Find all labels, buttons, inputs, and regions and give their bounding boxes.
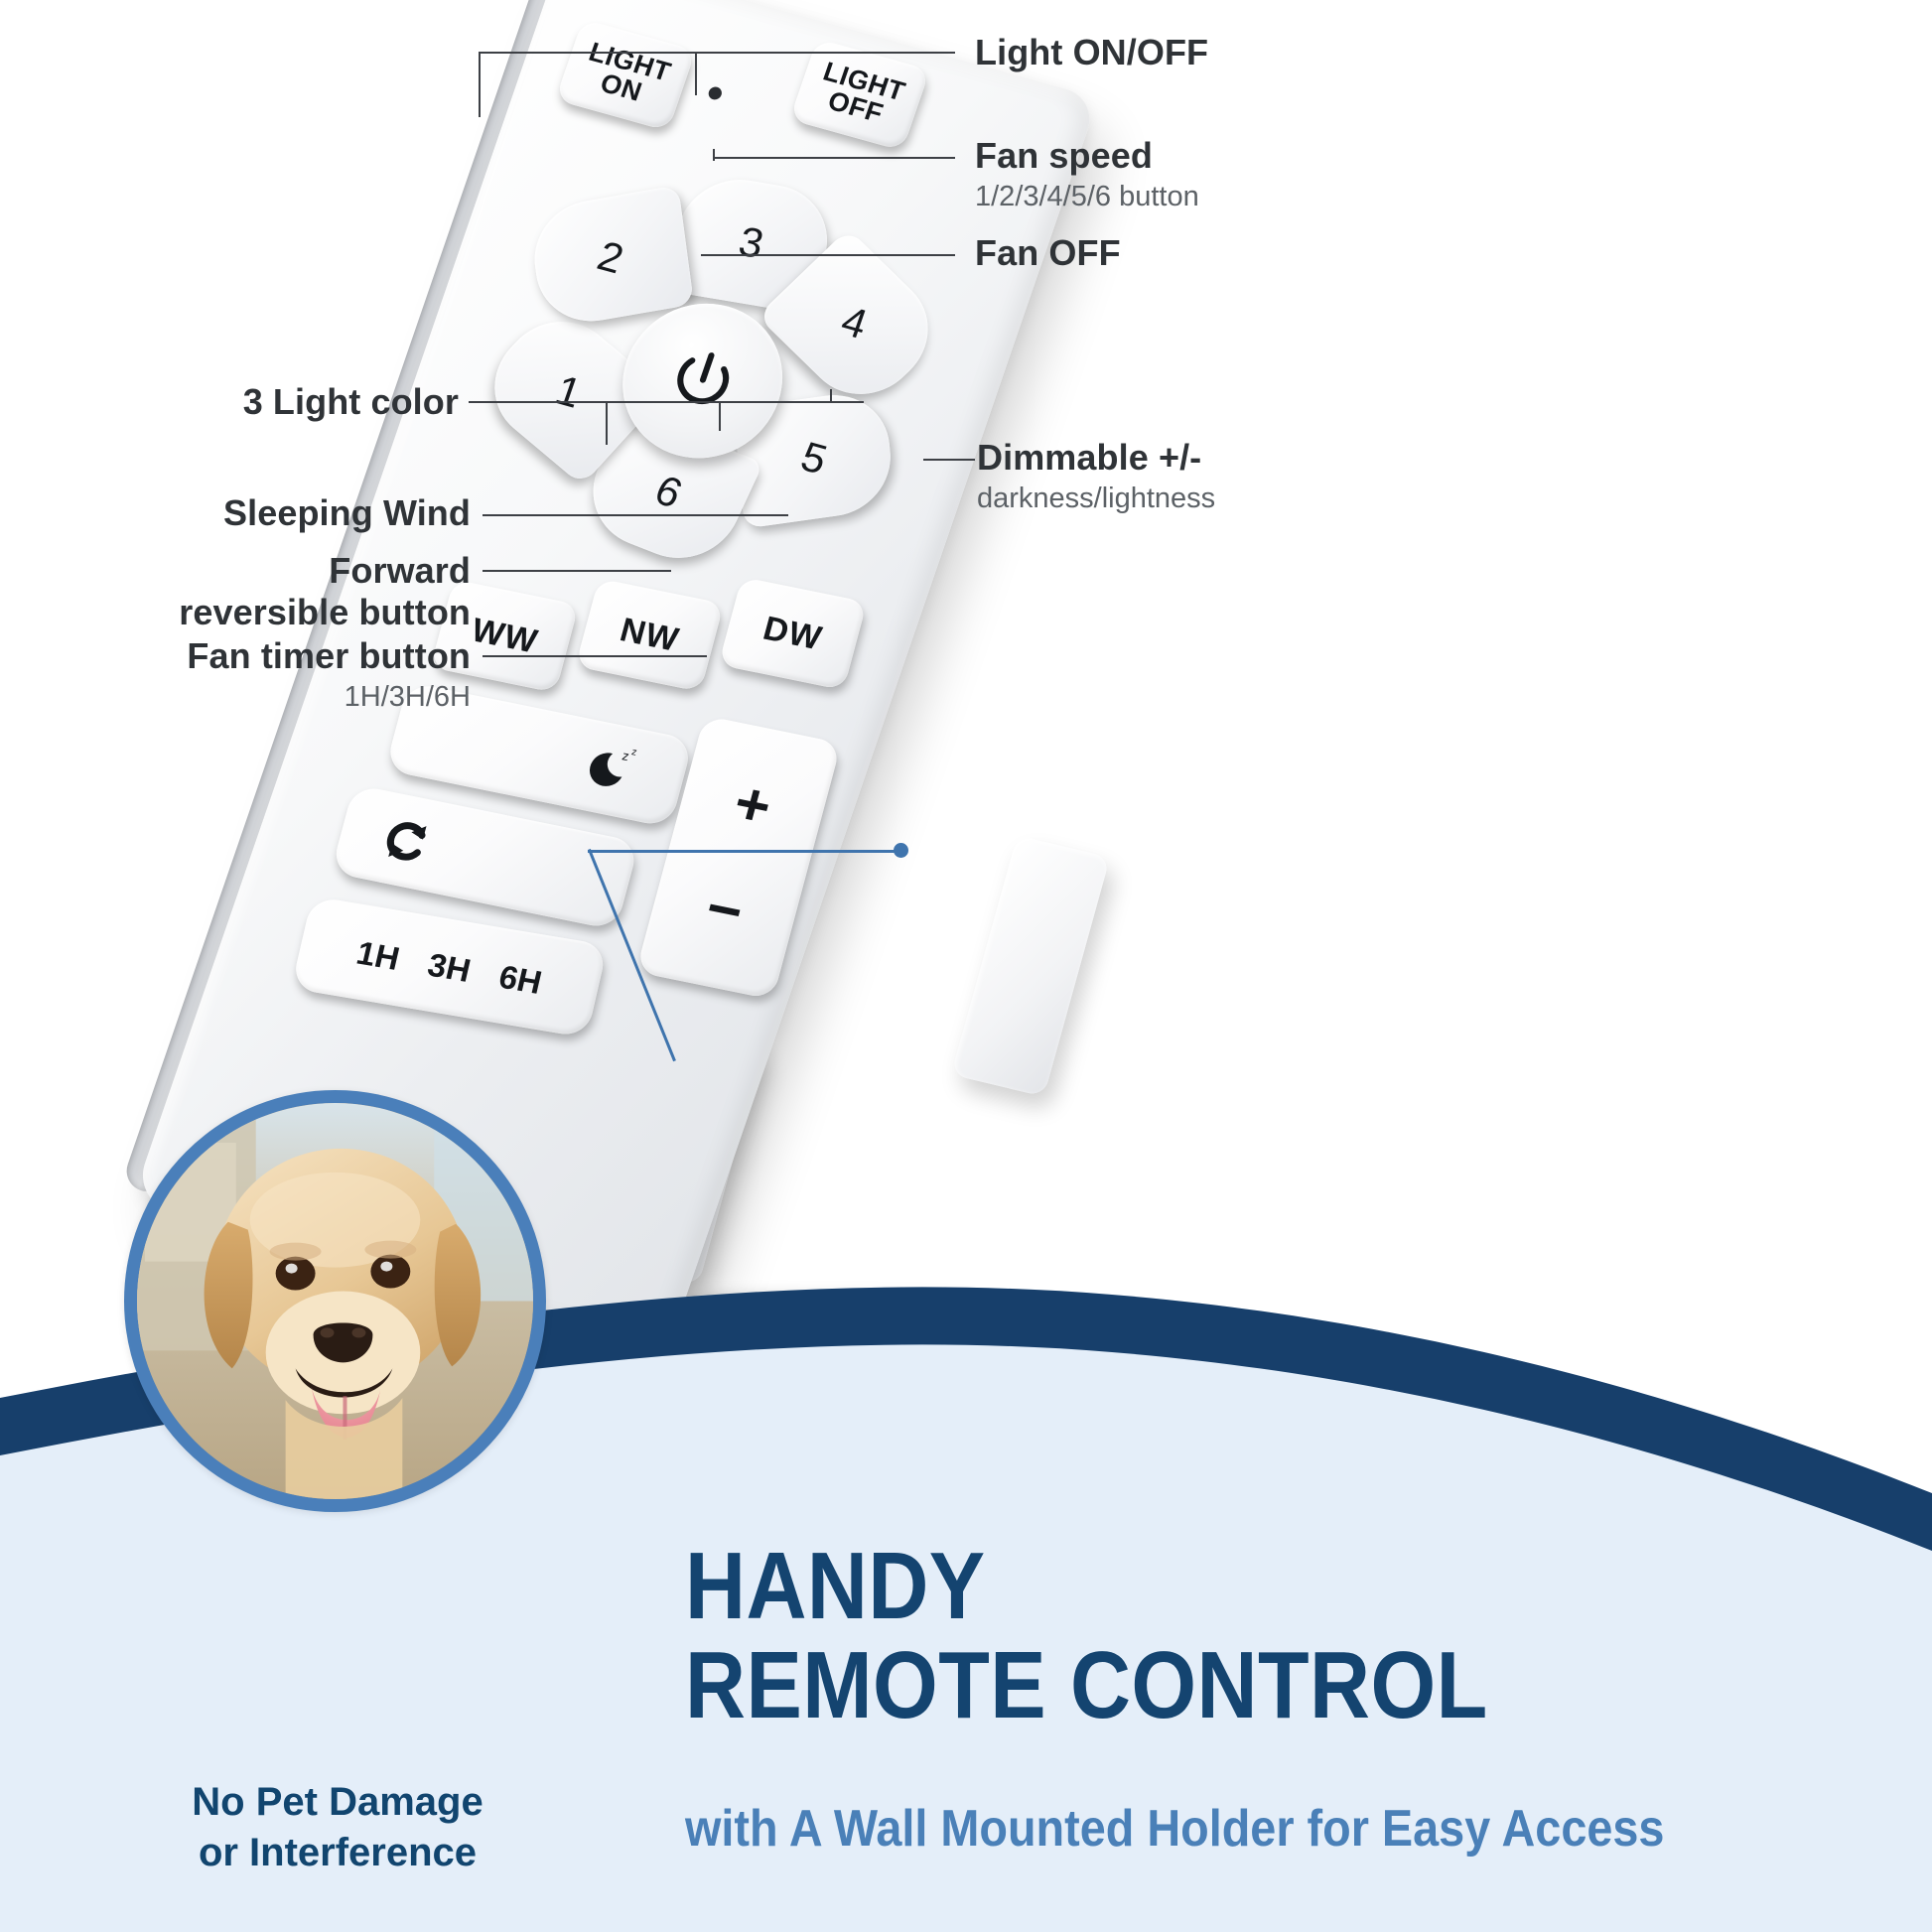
dw-label: DW (759, 612, 825, 656)
holder-pointer-dot (894, 843, 908, 858)
timer-6h-label: 6H (496, 959, 545, 998)
callout-fan-off: Fan OFF (975, 232, 1121, 274)
callout-fan-speed-sub: 1/2/3/4/5/6 button (975, 181, 1199, 213)
fan-speed-ring: 3 4 5 6 1 2 (445, 137, 962, 624)
callout-fan-timer-sub: 1H/3H/6H (0, 681, 471, 714)
svg-text:z: z (630, 747, 638, 759)
speed-6-label: 6 (647, 466, 689, 517)
leader-dimmable (923, 459, 975, 461)
power-icon (652, 334, 753, 428)
infographic-canvas: LIGHT ON LIGHT OFF 3 (0, 0, 1932, 1932)
holder-pointer-horizontal (588, 850, 905, 853)
ww-label: WW (468, 614, 541, 659)
pet-caption-line1: No Pet Damage (79, 1777, 596, 1828)
dimmer-plus-label: + (730, 778, 776, 831)
ir-emitter-dot (707, 85, 724, 101)
leader-fan-speed (713, 157, 955, 159)
leader-fan-off (701, 254, 955, 256)
pet-caption-line2: or Interference (79, 1828, 596, 1878)
leader-forward-reversible (483, 570, 671, 572)
nw-label: NW (617, 613, 682, 657)
pet-caption: No Pet Damage or Interference (79, 1777, 596, 1878)
callout-sleeping-wind: Sleeping Wind (0, 492, 471, 534)
leader-dw-tick (830, 389, 832, 403)
callout-forward-line1: Forward (0, 550, 471, 592)
timer-1h-label: 1H (353, 935, 402, 974)
callout-light-color-title: 3 Light color (0, 381, 459, 423)
callout-fan-off-title: Fan OFF (975, 232, 1121, 274)
color-daylight-white-button[interactable]: DW (719, 577, 868, 690)
callout-dimmable-sub: darkness/lightness (977, 483, 1215, 515)
wall-holder-clip-right (951, 835, 1110, 1096)
leader-nw-tick (719, 401, 721, 431)
callout-light-color: 3 Light color (0, 381, 459, 423)
svg-text:z: z (621, 748, 630, 763)
headline-line1: HANDY (685, 1537, 1488, 1636)
speed-5-label: 5 (795, 433, 833, 484)
leader-light-off (695, 52, 697, 95)
callout-forward-line2: reversible button (0, 592, 471, 633)
light-off-button[interactable]: LIGHT OFF (789, 39, 930, 151)
callout-light-on-off-title: Light ON/OFF (975, 32, 1208, 73)
dimmer-minus-label: − (701, 884, 748, 936)
timer-3h-label: 3H (425, 947, 474, 986)
leader-ww-tick (606, 401, 608, 445)
light-on-button[interactable]: LIGHT ON (555, 19, 696, 131)
headline-line2: REMOTE CONTROL (685, 1636, 1488, 1735)
callout-fan-timer: Fan timer button 1H/3H/6H (0, 635, 471, 714)
speed-1-label: 1 (550, 366, 588, 418)
callout-sleeping-wind-title: Sleeping Wind (0, 492, 471, 534)
moon-sleep-icon: z z (577, 737, 648, 804)
callout-light-on-off: Light ON/OFF (975, 32, 1208, 73)
reverse-loop-icon (368, 805, 445, 877)
golden-retriever-photo (137, 1103, 533, 1499)
callout-fan-speed-title: Fan speed (975, 135, 1199, 177)
speed-2-label: 2 (592, 232, 629, 284)
callout-fan-timer-title: Fan timer button (0, 635, 471, 677)
callout-fan-speed: Fan speed 1/2/3/4/5/6 button (975, 135, 1199, 213)
leader-fan-timer (483, 655, 707, 657)
callout-forward-reversible: Forward reversible button (0, 550, 471, 633)
leader-light-color (469, 401, 864, 403)
callout-dimmable-title: Dimmable +/- (977, 437, 1215, 479)
leader-light-onoff-h (479, 52, 955, 54)
leader-sleeping-wind (483, 514, 788, 516)
callout-dimmable: Dimmable +/- darkness/lightness (977, 437, 1215, 515)
color-neutral-white-button[interactable]: NW (575, 579, 724, 692)
subheadline: with A Wall Mounted Holder for Easy Acce… (685, 1799, 1664, 1859)
speed-3-label: 3 (735, 217, 768, 267)
headline: HANDY REMOTE CONTROL (685, 1537, 1488, 1735)
remote-control-illustration: LIGHT ON LIGHT OFF 3 (467, 10, 1459, 1420)
pet-photo-circle (124, 1090, 546, 1512)
speed-4-label: 4 (836, 298, 874, 349)
leader-fan-speed-tick (713, 149, 715, 161)
speed-button-2[interactable]: 2 (528, 185, 694, 330)
leader-light-on (479, 52, 481, 117)
